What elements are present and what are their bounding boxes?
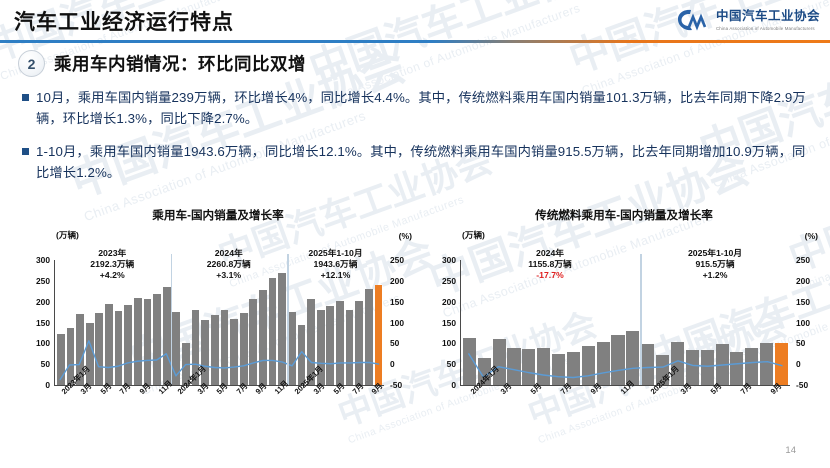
chart-conventional-fuel-vehicle: 传统燃料乘用车-国内销量及增长率 (万辆) (%) 05010015020025… xyxy=(424,205,824,440)
axis-tick-label: 0 xyxy=(796,359,801,369)
x-axis-labels: 2023年1月3月5月7月9月11月2024年1月3月5月7月9月11月2025… xyxy=(54,387,384,435)
association-logo: 中国汽车工业协会 China Association of Automobile… xyxy=(676,7,820,33)
annotation-year: 2024年 xyxy=(207,248,251,259)
section-title: 乘用车内销情况：环比同比双增 xyxy=(54,51,306,76)
axis-tick-label: 100 xyxy=(796,318,810,328)
axis-tick-label: 150 xyxy=(796,297,810,307)
section-heading: 2 乘用车内销情况：环比同比双增 xyxy=(18,50,306,77)
axis-tick-label: 300 xyxy=(36,255,50,265)
annotation-year: 2024年 xyxy=(528,248,571,259)
axis-tick-label: 200 xyxy=(390,276,404,286)
axis-tick-label: 200 xyxy=(442,297,456,307)
axis-tick-label: -50 xyxy=(796,380,808,390)
section-number-badge: 2 xyxy=(18,50,45,77)
x-axis-labels: 2024年1月3月5月7月9月11月2025年1月3月5月7月9月 xyxy=(460,387,790,435)
axis-tick-label: 100 xyxy=(442,338,456,348)
annotation-growth: +3.1% xyxy=(207,270,251,281)
annotation-value: 1155.8万辆 xyxy=(528,259,571,270)
annotation-growth: +12.1% xyxy=(308,270,362,281)
chart-ylabel: (万辆) xyxy=(56,229,79,241)
charts-area: 乘用车-国内销量及增长率 (万辆) (%) 050100150200250300… xyxy=(0,205,830,440)
axis-tick-label: 200 xyxy=(36,297,50,307)
chart-ylabel: (万辆) xyxy=(462,229,485,241)
logo-text-en: China Association of Automobile Manufact… xyxy=(716,27,820,31)
year-annotation: 2024年2260.8万辆+3.1% xyxy=(207,248,251,281)
chart-title: 乘用车-国内销量及增长率 xyxy=(18,205,418,223)
axis-tick-label: 250 xyxy=(36,276,50,286)
annotation-value: 2192.3万辆 xyxy=(90,259,134,270)
year-annotation: 2023年2192.3万辆+4.2% xyxy=(90,248,134,281)
annotation-growth: +4.2% xyxy=(90,270,134,281)
axis-tick-label: 0 xyxy=(451,380,456,390)
axis-tick-label: 100 xyxy=(36,338,50,348)
y-axis-left: 050100150200250300 xyxy=(22,260,52,385)
axis-tick-label: 50 xyxy=(796,338,805,348)
axis-tick-label: 250 xyxy=(442,276,456,286)
year-divider xyxy=(640,254,641,385)
annotation-growth: -17.7% xyxy=(528,270,571,281)
logo-text-cn: 中国汽车工业协会 xyxy=(716,9,820,23)
header-divider xyxy=(0,40,830,43)
page-number: 14 xyxy=(785,445,796,456)
annotation-value: 1943.6万辆 xyxy=(308,259,362,270)
axis-tick-label: 150 xyxy=(390,297,404,307)
bullet-text: 10月，乘用车国内销量239万辆，环比增长4%，同比增长4.4%。其中，传统燃料… xyxy=(36,88,814,129)
bullet-square-icon xyxy=(22,94,29,101)
bullet-list: 10月，乘用车国内销量239万辆，环比增长4%，同比增长4.4%。其中，传统燃料… xyxy=(22,88,814,196)
annotation-year: 2023年 xyxy=(90,248,134,259)
list-item: 10月，乘用车国内销量239万辆，环比增长4%，同比增长4.4%。其中，传统燃料… xyxy=(22,88,814,129)
slide-header: 汽车工业经济运行特点 中国汽车工业协会 China Association of… xyxy=(0,0,830,44)
y-axis-right: -50050100150200250 xyxy=(792,260,822,385)
y-axis-left: 050100150200250300 xyxy=(428,260,458,385)
chart-y2label: (%) xyxy=(805,231,818,241)
cam-logo-icon xyxy=(676,7,710,33)
axis-tick-label: -50 xyxy=(390,380,402,390)
axis-tick-label: 300 xyxy=(442,255,456,265)
annotation-year: 2025年1-10月 xyxy=(308,248,362,259)
chart-passenger-vehicle: 乘用车-国内销量及增长率 (万辆) (%) 050100150200250300… xyxy=(18,205,418,440)
axis-tick-label: 100 xyxy=(390,318,404,328)
annotation-growth: +1.2% xyxy=(688,270,742,281)
bullet-text: 1-10月，乘用车国内销量1943.6万辆，同比增长12.1%。其中，传统燃料乘… xyxy=(36,142,814,183)
bullet-square-icon xyxy=(22,148,29,155)
y-axis-right: -50050100150200250 xyxy=(386,260,416,385)
page-title: 汽车工业经济运行特点 xyxy=(14,6,234,36)
axis-tick-label: 150 xyxy=(442,318,456,328)
list-item: 1-10月，乘用车国内销量1943.6万辆，同比增长12.1%。其中，传统燃料乘… xyxy=(22,142,814,183)
axis-tick-label: 250 xyxy=(390,255,404,265)
annotation-value: 2260.8万辆 xyxy=(207,259,251,270)
axis-tick-label: 0 xyxy=(390,359,395,369)
chart-title: 传统燃料乘用车-国内销量及增长率 xyxy=(424,205,824,223)
year-annotation: 2025年1-10月1943.6万辆+12.1% xyxy=(308,248,362,281)
year-annotation: 2024年1155.8万辆-17.7% xyxy=(528,248,571,281)
axis-tick-label: 200 xyxy=(796,276,810,286)
annotation-year: 2025年1-10月 xyxy=(688,248,742,259)
year-divider xyxy=(171,254,172,385)
axis-tick-label: 0 xyxy=(45,380,50,390)
axis-tick-label: 50 xyxy=(390,338,399,348)
axis-tick-label: 250 xyxy=(796,255,810,265)
year-divider xyxy=(287,254,288,385)
chart-y2label: (%) xyxy=(399,231,412,241)
axis-tick-label: 50 xyxy=(447,359,456,369)
annotation-value: 915.5万辆 xyxy=(688,259,742,270)
axis-tick-label: 50 xyxy=(41,359,50,369)
axis-tick-label: 150 xyxy=(36,318,50,328)
year-annotation: 2025年1-10月915.5万辆+1.2% xyxy=(688,248,742,281)
